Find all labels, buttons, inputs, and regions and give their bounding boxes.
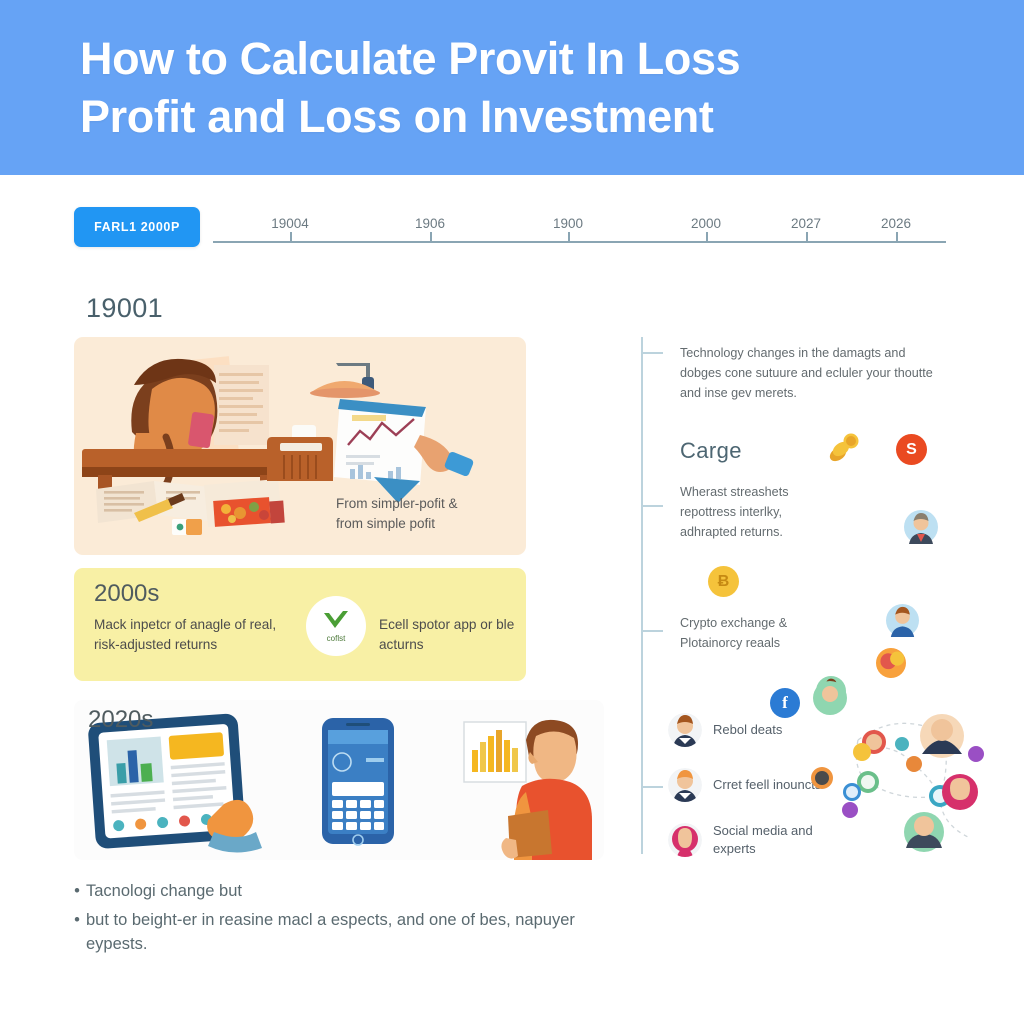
list-item: • Tacnologi change but <box>68 880 588 903</box>
check-badge: coflst <box>306 596 366 656</box>
coins-stack-icon <box>826 432 862 466</box>
illustration-panel-2020s: 2020s <box>74 700 604 860</box>
rail-tick <box>641 505 663 507</box>
timeline-tick <box>706 232 708 243</box>
panel-one-caption-line-1: From simpler-pofit & <box>336 494 516 514</box>
page-title-line-1: How to Calculate Provit In Loss <box>80 30 740 88</box>
bitcoin-badge-icon: Ƀ <box>708 566 739 597</box>
timeline-label-1[interactable]: 1906 <box>415 216 445 231</box>
avatar <box>876 648 906 678</box>
page-title: How to Calculate Provit In Loss Profit a… <box>0 30 800 145</box>
avatar <box>668 713 702 747</box>
check-badge-label: coflst <box>327 634 346 643</box>
panel-three-heading: 2020s <box>88 706 153 734</box>
bullet-dot-icon: • <box>68 909 86 932</box>
era-heading: 19001 <box>86 293 163 324</box>
panel-two-right-text: Ecell spotor app or ble acturns <box>379 615 519 656</box>
timeline-tick <box>290 232 292 243</box>
timeline-axis <box>213 241 946 243</box>
right-section-heading: Carge <box>680 438 742 464</box>
right-section-text: Wherast streashets repottress interlky, … <box>680 483 830 543</box>
panel-one-caption: From simpler-pofit & from simple pofit <box>336 494 516 533</box>
illustration-panel-1900s: From simpler-pofit & from simple pofit <box>74 337 526 555</box>
rail-tick <box>641 630 663 632</box>
timeline-tick <box>430 232 432 243</box>
timeline-label-0[interactable]: 19004 <box>271 216 309 231</box>
avatar <box>668 823 702 857</box>
rail-tick <box>641 352 663 354</box>
info-panel-2000s: 2000s Mack inpetcr of anagle of real, ri… <box>74 568 526 681</box>
bottom-bullet-list: • Tacnologi change but • but to beight-e… <box>68 880 588 962</box>
list-item: • but to beight-er in reasine macl a esp… <box>68 909 588 956</box>
phone-icon <box>322 718 394 845</box>
avatar <box>904 510 938 544</box>
bullet-dot-icon: • <box>68 880 86 903</box>
avatar <box>668 768 702 802</box>
right-intro-text: Technology changes in the damagts and do… <box>680 344 950 404</box>
panel-two-heading: 2000s <box>94 580 159 608</box>
rail-tick <box>641 786 663 788</box>
timeline-tick <box>806 232 808 243</box>
page-header: How to Calculate Provit In Loss Profit a… <box>0 0 1024 175</box>
right-crypto-text: Crypto exchange & Plotainorcy reaals <box>680 614 840 654</box>
panel-one-caption-line-2: from simple pofit <box>336 514 516 534</box>
timeline-label-5[interactable]: 2026 <box>881 216 911 231</box>
timeline-tick <box>568 232 570 243</box>
network-graph <box>790 680 1010 860</box>
timeline-era-badge[interactable]: FARL1 2000P <box>74 207 200 247</box>
avatar <box>886 604 919 637</box>
right-column-rail <box>641 337 643 854</box>
bullet-text-1: but to beight-er in reasine macl a espec… <box>86 909 588 956</box>
bullet-text-0: Tacnologi change but <box>86 880 242 903</box>
page-title-line-2: Profit and Loss on Investment <box>80 88 740 146</box>
devices-scene-illustration <box>74 700 604 860</box>
check-icon <box>321 609 351 633</box>
s-badge-icon: S <box>896 434 927 465</box>
timeline-label-4[interactable]: 2027 <box>791 216 821 231</box>
bar-chart-icon <box>464 722 526 782</box>
timeline-tick <box>896 232 898 243</box>
timeline-label-2[interactable]: 1900 <box>553 216 583 231</box>
panel-two-left-text: Mack inpetcr of anagle of real, risk-adj… <box>94 615 294 656</box>
timeline-label-3[interactable]: 2000 <box>691 216 721 231</box>
